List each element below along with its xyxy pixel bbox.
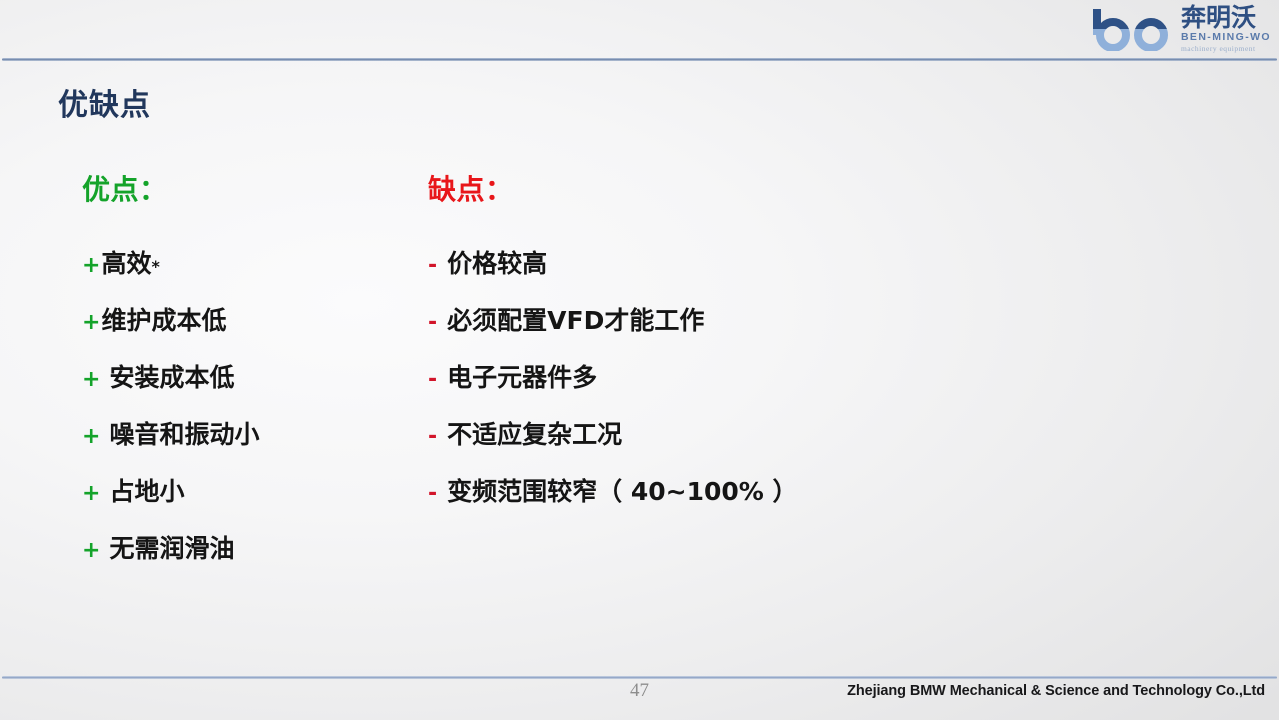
list-item: + 维护成本低 [82,307,412,334]
plus-marker-icon: + [82,312,100,334]
list-item: + 占地小 [82,478,412,505]
cons-list: - 价格较高 - 必须配置VFD才能工作 - 电子元器件多 - 不适应复杂工况 … [428,250,1028,505]
minus-marker-icon: - [428,369,437,391]
header-divider [2,58,1277,61]
pros-heading: 优点： [82,168,412,208]
plus-marker-icon: + [82,255,100,277]
logo-tagline: machinery equipment [1181,45,1271,53]
list-item-label: 电子元器件多 [447,364,597,391]
cons-heading: 缺点： [428,168,1028,208]
list-item: - 变频范围较窄（ 40~100% ） [428,478,1028,505]
logo-brand-cn: 奔明沃 [1181,5,1271,31]
page-title: 优缺点 [58,80,151,124]
logo-brand-en: BEN-MING-WO [1181,32,1271,43]
list-item: - 不适应复杂工况 [428,421,1028,448]
pros-column: 优点： + 高效 * + 维护成本低 + 安装成本低 + 噪音和振动小 + 占 [82,168,412,592]
pros-list: + 高效 * + 维护成本低 + 安装成本低 + 噪音和振动小 + 占地小 [82,250,412,562]
footer-divider [2,676,1277,679]
minus-marker-icon: - [428,483,437,505]
list-item: - 必须配置VFD才能工作 [428,307,1028,334]
list-item: + 高效 * [82,250,412,277]
cons-column: 缺点： - 价格较高 - 必须配置VFD才能工作 - 电子元器件多 - 不适应复… [428,168,1028,535]
minus-marker-icon: - [428,255,437,277]
plus-marker-icon: + [82,426,100,448]
list-item-label: 占地小 [109,478,184,505]
list-item-label: 不适应复杂工况 [447,421,622,448]
footnote-asterisk: * [151,258,159,275]
plus-marker-icon: + [82,540,100,562]
plus-marker-icon: + [82,369,100,391]
bo-monogram-icon [1089,5,1175,51]
list-item: + 无需润滑油 [82,535,412,562]
list-item-label: 变频范围较窄（ 40~100% ） [447,478,797,505]
slide: 奔明沃 BEN-MING-WO machinery equipment 优缺点 … [0,0,1279,720]
list-item: - 电子元器件多 [428,364,1028,391]
plus-marker-icon: + [82,483,100,505]
list-item-label: 无需润滑油 [109,535,234,562]
list-item-label: 噪音和振动小 [109,421,259,448]
company-logo: 奔明沃 BEN-MING-WO machinery equipment [1089,2,1271,54]
list-item-label: 高效 [101,250,151,277]
list-item: + 安装成本低 [82,364,412,391]
list-item-label: 价格较高 [447,250,547,277]
logo-wordmark: 奔明沃 BEN-MING-WO machinery equipment [1181,4,1271,53]
list-item-label: 维护成本低 [101,307,226,334]
list-item-label: 必须配置VFD才能工作 [447,307,704,334]
list-item: - 价格较高 [428,250,1028,277]
list-item-label: 安装成本低 [109,364,234,391]
footer-company-name: Zhejiang BMW Mechanical & Science and Te… [847,683,1265,699]
minus-marker-icon: - [428,426,437,448]
slide-header: 奔明沃 BEN-MING-WO machinery equipment [0,0,1279,61]
list-item: + 噪音和振动小 [82,421,412,448]
minus-marker-icon: - [428,312,437,334]
